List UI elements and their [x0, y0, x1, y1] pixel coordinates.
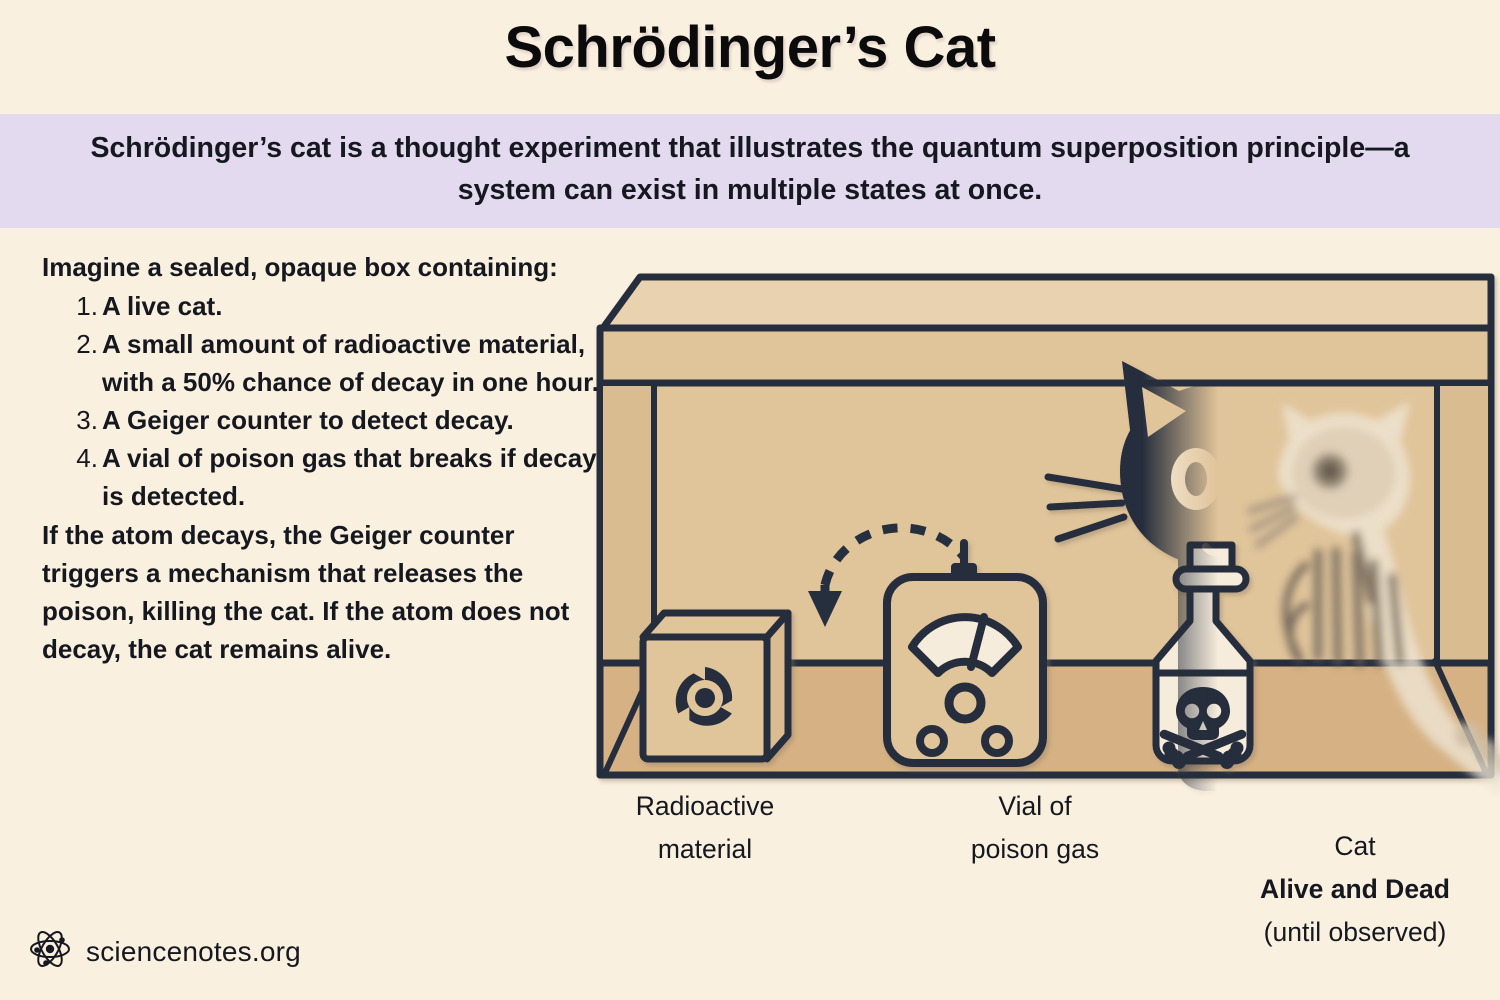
caption-radioactive-line1: Radioactive	[590, 785, 820, 828]
geiger-counter-icon	[887, 543, 1043, 763]
caption-cat: Cat Alive and Dead (until observed)	[1205, 825, 1500, 954]
explanation-column: Imagine a sealed, opaque box containing:…	[42, 248, 602, 668]
atom-icon	[26, 925, 74, 978]
list-item: A small amount of radioactive material, …	[42, 325, 602, 401]
outro-text: If the atom decays, the Geiger counter t…	[42, 515, 602, 668]
caption-cat-line2: Alive and Dead	[1205, 868, 1500, 911]
geiger-gauge	[912, 617, 1018, 673]
list-item: A Geiger counter to detect decay.	[42, 401, 602, 439]
site-footer: sciencenotes.org	[26, 925, 301, 978]
caption-vial-line1: Vial of	[920, 785, 1150, 828]
caption-cat-line1: Cat	[1205, 825, 1500, 868]
box-scene	[560, 255, 1500, 815]
radioactive-material	[643, 613, 788, 759]
caption-radioactive: Radioactive material	[590, 785, 820, 871]
page-title: Schrödinger’s Cat	[0, 14, 1500, 81]
caption-vial-line2: poison gas	[920, 828, 1150, 871]
caption-vial: Vial of poison gas	[920, 785, 1150, 871]
intro-text: Imagine a sealed, opaque box containing:	[42, 248, 602, 286]
caption-radioactive-line2: material	[590, 828, 820, 871]
box-lid-top	[603, 277, 1491, 328]
geiger-body	[887, 577, 1043, 763]
caption-cat-line3: (until observed)	[1205, 911, 1500, 954]
subtitle-text: Schrödinger’s cat is a thought experimen…	[90, 127, 1410, 211]
contents-list: A live cat. A small amount of radioactiv…	[42, 287, 602, 515]
list-item: A live cat.	[42, 287, 602, 325]
site-name: sciencenotes.org	[86, 936, 301, 968]
list-item: A vial of poison gas that breaks if deca…	[42, 439, 602, 515]
